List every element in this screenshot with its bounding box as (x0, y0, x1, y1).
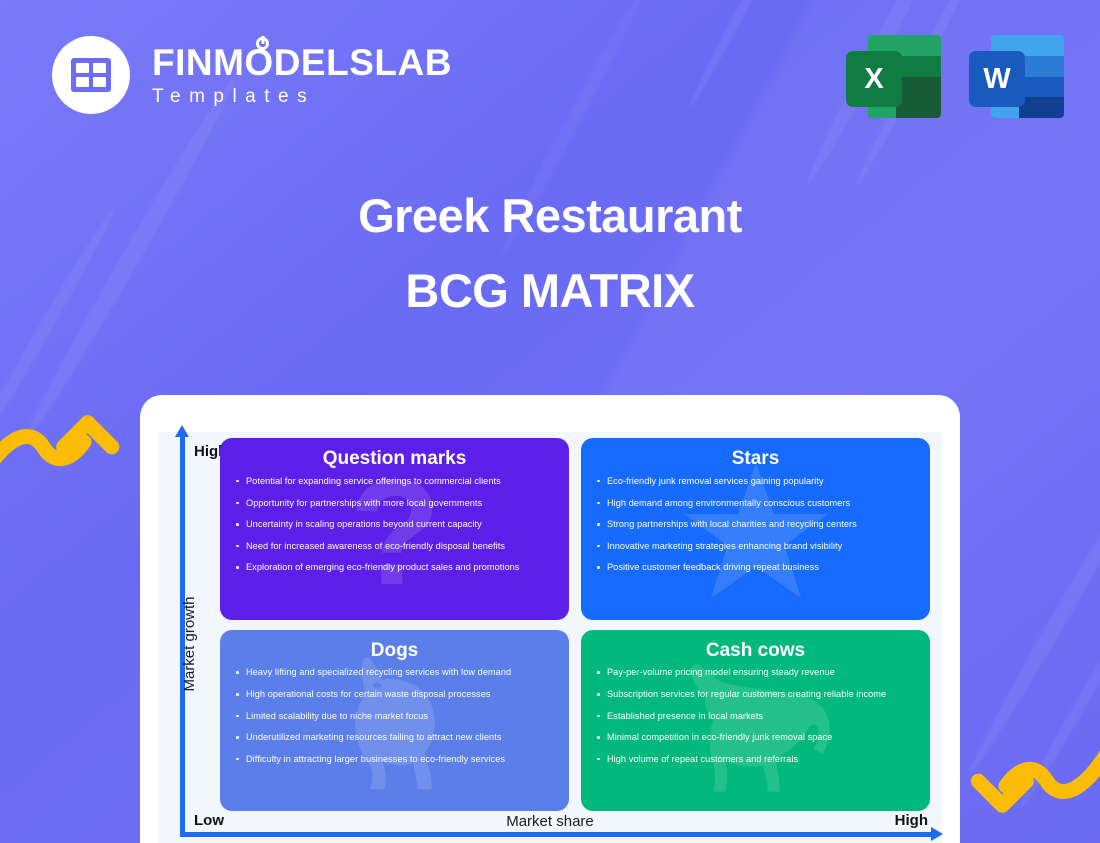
word-icon[interactable]: W (969, 29, 1064, 121)
quadrant-title: Question marks (234, 449, 555, 470)
quadrant-item-list: Potential for expanding service offering… (234, 476, 555, 573)
quadrant-title: Cash cows (595, 641, 916, 662)
quadrant-grid: ? Question marks Potential for expanding… (220, 438, 930, 811)
quadrant-cash-cows[interactable]: Cash cows Pay-per-volume pricing model e… (581, 630, 930, 812)
list-item: Need for increased awareness of eco-frie… (234, 541, 555, 551)
x-axis-title: Market share (158, 813, 942, 830)
list-item: Eco-friendly junk removal services gaini… (595, 476, 916, 486)
background-brush-stroke (1015, 599, 1100, 812)
list-item: High operational costs for certain waste… (234, 689, 555, 699)
squiggle-arrow-up-right-icon (0, 398, 128, 490)
quadrant-question-marks[interactable]: ? Question marks Potential for expanding… (220, 438, 569, 620)
matrix-card: High Low High Market growth Market share… (140, 395, 960, 843)
list-item: Strong partnerships with local charities… (595, 519, 916, 529)
list-item: Positive customer feedback driving repea… (595, 562, 916, 572)
matrix-panel: High Low High Market growth Market share… (158, 432, 942, 843)
quadrant-item-list: Pay-per-volume pricing model ensuring st… (595, 667, 916, 764)
word-icon-letter: W (969, 51, 1025, 107)
list-item: Uncertainty in scaling operations beyond… (234, 519, 555, 529)
list-item: Pay-per-volume pricing model ensuring st… (595, 667, 916, 677)
list-item: Underutilized marketing resources failin… (234, 732, 555, 742)
list-item: Innovative marketing strategies enhancin… (595, 541, 916, 551)
header: FINMODELSLAB Templates X W (0, 0, 1100, 150)
squiggle-arrow-down-left-icon (962, 738, 1100, 830)
quadrant-item-list: Heavy lifting and specialized recycling … (234, 667, 555, 764)
quadrant-item-list: Eco-friendly junk removal services gaini… (595, 476, 916, 573)
list-item: Exploration of emerging eco-friendly pro… (234, 562, 555, 572)
excel-icon-letter: X (846, 51, 902, 107)
quadrant-dogs[interactable]: Dogs Heavy lifting and specialized recyc… (220, 630, 569, 812)
file-format-icons: X W (846, 29, 1064, 121)
list-item: Opportunity for partnerships with more l… (234, 498, 555, 508)
page-title-line1: Greek Restaurant (0, 190, 1100, 242)
list-item: High demand among environmentally consci… (595, 498, 916, 508)
grid-logo-icon (52, 36, 130, 114)
page-title-line2: BCG MATRIX (0, 265, 1100, 317)
quadrant-title: Dogs (234, 641, 555, 662)
list-item: Subscription services for regular custom… (595, 689, 916, 699)
excel-icon[interactable]: X (846, 29, 941, 121)
list-item: Established presence in local markets (595, 711, 916, 721)
quadrant-title: Stars (595, 449, 916, 470)
list-item: Difficulty in attracting larger business… (234, 754, 555, 764)
brand-logo: FINMODELSLAB Templates (52, 36, 452, 114)
brand-subtitle: Templates (152, 87, 452, 106)
list-item: Heavy lifting and specialized recycling … (234, 667, 555, 677)
list-item: Limited scalability due to niche market … (234, 711, 555, 721)
quadrant-stars[interactable]: Stars Eco-friendly junk removal services… (581, 438, 930, 620)
background-brush-stroke (964, 458, 1100, 777)
slide-canvas: FINMODELSLAB Templates X W Greek Restaur… (0, 0, 1100, 843)
y-axis-title: Market growth (181, 596, 198, 691)
brand-name-text: FINMODELSLAB (152, 42, 452, 83)
list-item: Potential for expanding service offering… (234, 476, 555, 486)
page-title: Greek Restaurant BCG MATRIX (0, 190, 1100, 316)
list-item: High volume of repeat customers and refe… (595, 754, 916, 764)
list-item: Minimal competition in eco-friendly junk… (595, 732, 916, 742)
x-axis-line (180, 832, 932, 837)
brand-name: FINMODELSLAB (152, 44, 452, 81)
brand-o-accent-icon (256, 37, 269, 50)
